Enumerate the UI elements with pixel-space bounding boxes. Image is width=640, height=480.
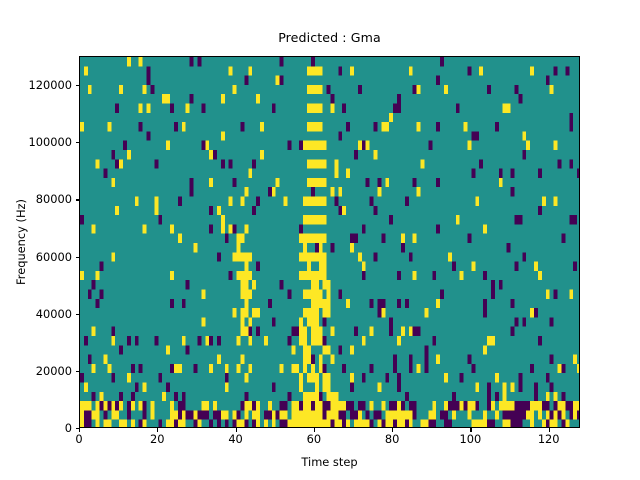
- x-tick-mark: [314, 428, 315, 432]
- x-tick-label: 120: [519, 432, 579, 446]
- matplotlib-figure: Predicted : Gma 020000400006000080000100…: [0, 0, 640, 480]
- y-tick-mark: [76, 314, 80, 315]
- x-tick-label: 60: [284, 432, 344, 446]
- y-tick-mark: [76, 142, 80, 143]
- x-tick-mark: [79, 428, 80, 432]
- y-tick-mark: [76, 85, 80, 86]
- heatmap-plot-area: [79, 56, 580, 428]
- x-tick-mark: [392, 428, 393, 432]
- x-tick-label: 100: [440, 432, 500, 446]
- x-tick-mark: [157, 428, 158, 432]
- heatmap-image: [80, 57, 580, 428]
- x-tick-label: 80: [362, 432, 422, 446]
- x-tick-mark: [549, 428, 550, 432]
- x-tick-mark: [236, 428, 237, 432]
- chart-title: Predicted : Gma: [79, 30, 580, 45]
- x-tick-label: 0: [49, 432, 109, 446]
- y-tick-mark: [76, 257, 80, 258]
- y-axis-label: Frequency (Hz): [14, 56, 28, 428]
- x-tick-label: 40: [206, 432, 266, 446]
- y-tick-mark: [76, 199, 80, 200]
- x-tick-mark: [470, 428, 471, 432]
- x-axis-label: Time step: [79, 455, 580, 469]
- y-tick-mark: [76, 371, 80, 372]
- x-tick-label: 20: [127, 432, 187, 446]
